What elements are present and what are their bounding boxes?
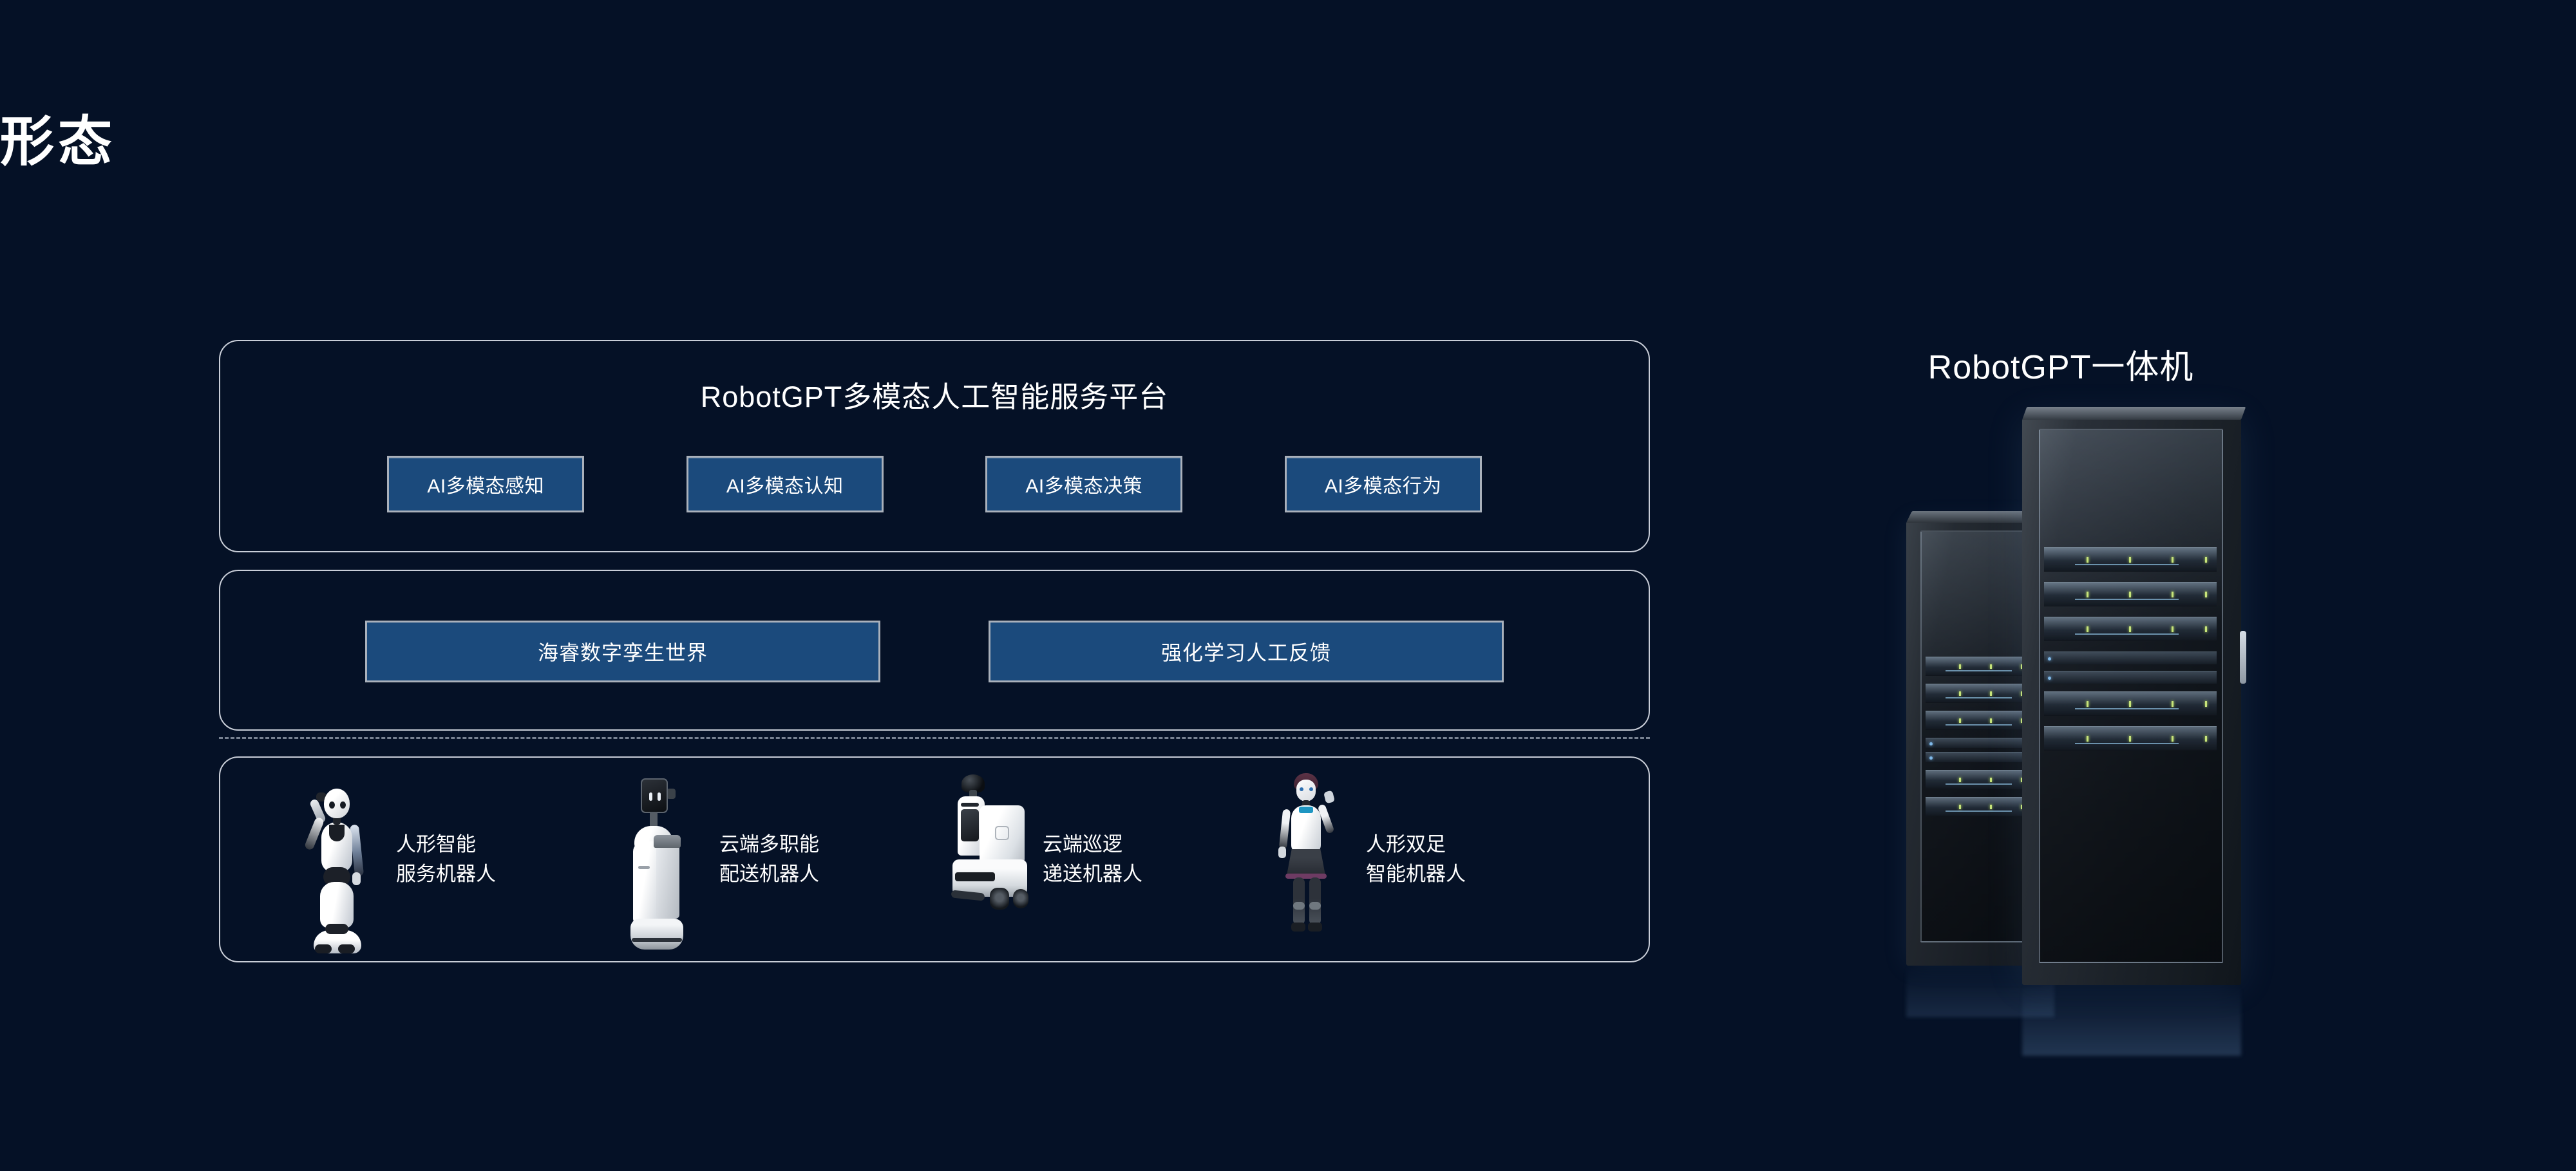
server-rack-icon xyxy=(1900,406,2260,1043)
capability-chip-behavior[interactable]: AI多模态行为 xyxy=(1285,456,1482,512)
robot-item-humanoid-service[interactable]: 人形智能 服务机器人 xyxy=(288,758,611,961)
capability-chip-decision[interactable]: AI多模态决策 xyxy=(985,456,1182,512)
rack-reflection-front xyxy=(2022,985,2241,1056)
rack-door-handle[interactable] xyxy=(2240,631,2246,684)
robot-label-line2: 递送机器人 xyxy=(1043,859,1142,890)
capability-chip-cognition[interactable]: AI多模态认知 xyxy=(687,456,884,512)
robot-label-line2: 服务机器人 xyxy=(396,859,496,890)
robot-row: 人形智能 服务机器人 云 xyxy=(220,758,1649,961)
robot-label-line1: 云端巡逻 xyxy=(1043,830,1142,860)
appliance-title: RobotGPT一体机 xyxy=(1739,340,2383,388)
slide-root: 产品形态 RobotGPT多模态人工智能服务平台 AI多模态感知 AI多模态认知… xyxy=(0,0,2576,1171)
humanoid-service-robot-icon xyxy=(288,769,384,950)
page-title: 产品形态 xyxy=(0,115,1288,169)
robot-label-line2: 配送机器人 xyxy=(719,859,819,890)
robot-item-cloud-delivery[interactable]: 云端多职能 配送机器人 xyxy=(611,758,934,961)
section-divider xyxy=(219,737,1650,739)
engine-bar-row: 海睿数字孪生世界 强化学习人工反馈 xyxy=(220,621,1649,682)
capability-chip-perception[interactable]: AI多模态感知 xyxy=(387,456,584,512)
robots-panel: 人形智能 服务机器人 云 xyxy=(219,756,1650,962)
cloud-delivery-robot-icon xyxy=(611,769,708,950)
robot-label-line1: 人形智能 xyxy=(396,830,496,860)
robot-label-humanoid-service: 人形智能 服务机器人 xyxy=(396,830,496,890)
engine-bar-digital-twin[interactable]: 海睿数字孪生世界 xyxy=(365,621,880,682)
engine-bar-rlhf[interactable]: 强化学习人工反馈 xyxy=(989,621,1504,682)
robot-item-biped-humanoid[interactable]: 人形双足 智能机器人 xyxy=(1258,758,1581,961)
engine-panel: 海睿数字孪生世界 强化学习人工反馈 xyxy=(219,570,1650,731)
robot-label-line1: 人形双足 xyxy=(1366,830,1466,860)
robot-item-cloud-patrol[interactable]: 云端巡逻 递送机器人 xyxy=(934,758,1258,961)
platform-panel: RobotGPT多模态人工智能服务平台 AI多模态感知 AI多模态认知 AI多模… xyxy=(219,340,1650,552)
robot-label-line1: 云端多职能 xyxy=(719,830,819,860)
robot-label-cloud-patrol: 云端巡逻 递送机器人 xyxy=(1043,830,1142,890)
server-rack-primary xyxy=(2022,418,2241,985)
robot-label-biped-humanoid: 人形双足 智能机器人 xyxy=(1366,830,1466,890)
platform-panel-title: RobotGPT多模态人工智能服务平台 xyxy=(220,373,1649,415)
capability-chip-row: AI多模态感知 AI多模态认知 AI多模态决策 AI多模态行为 xyxy=(220,456,1649,512)
robot-label-cloud-delivery: 云端多职能 配送机器人 xyxy=(719,830,819,890)
cloud-patrol-robot-icon xyxy=(934,769,1031,950)
robot-label-line2: 智能机器人 xyxy=(1366,859,1466,890)
biped-humanoid-robot-icon xyxy=(1258,769,1354,950)
